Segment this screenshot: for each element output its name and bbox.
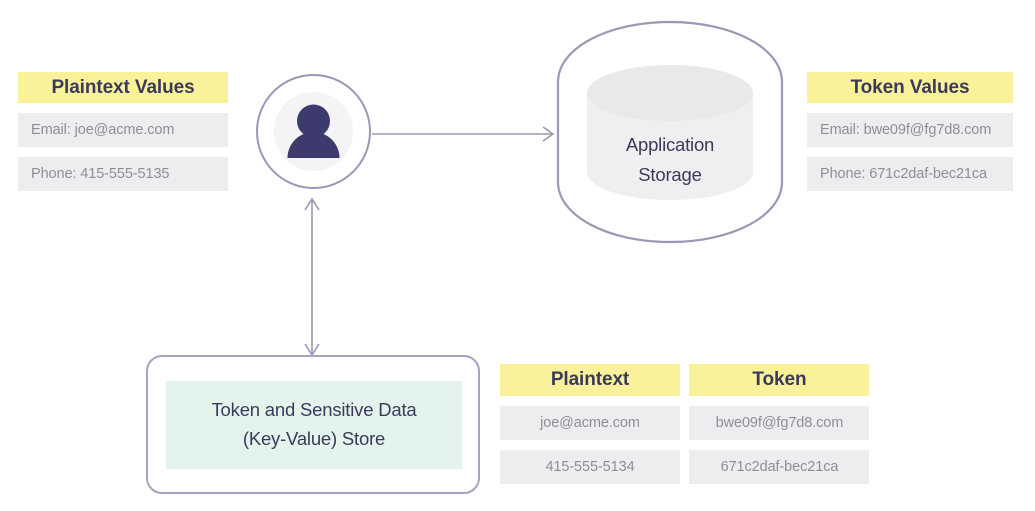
- user-to-storage-arrow: [372, 120, 562, 148]
- kv-store-label-line1: Token and Sensitive Data: [166, 395, 462, 424]
- mapping-cell-plaintext-email: joe@acme.com: [500, 406, 680, 440]
- user-to-kvstore-arrow: [298, 196, 326, 358]
- mapping-column-token: Token bwe09f@fg7d8.com 671c2daf-bec21ca: [689, 364, 869, 484]
- user-node: [256, 74, 371, 189]
- plaintext-values-header: Plaintext Values: [18, 72, 228, 103]
- kv-store-label-line2: (Key-Value) Store: [166, 424, 462, 453]
- token-phone-row: Phone: 671c2daf-bec21ca: [807, 157, 1013, 191]
- mapping-header-plaintext: Plaintext: [500, 364, 680, 396]
- mapping-cell-token-email: bwe09f@fg7d8.com: [689, 406, 869, 440]
- storage-node-label: Application Storage: [556, 130, 784, 190]
- kv-store-label: Token and Sensitive Data (Key-Value) Sto…: [166, 395, 462, 453]
- mapping-cell-plaintext-phone: 415-555-5134: [500, 450, 680, 484]
- diagram-canvas: Plaintext Values Email: joe@acme.com Pho…: [0, 0, 1035, 511]
- token-email-row: Email: bwe09f@fg7d8.com: [807, 113, 1013, 147]
- storage-label-line1: Application: [556, 130, 784, 160]
- token-values-header: Token Values: [807, 72, 1013, 103]
- token-values-panel: Token Values Email: bwe09f@fg7d8.com Pho…: [807, 72, 1013, 191]
- storage-label-line2: Storage: [556, 160, 784, 190]
- mapping-cell-token-phone: 671c2daf-bec21ca: [689, 450, 869, 484]
- plaintext-phone-row: Phone: 415-555-5135: [18, 157, 228, 191]
- user-avatar-icon: [258, 76, 369, 187]
- token-mapping-table: Plaintext joe@acme.com 415-555-5134 Toke…: [500, 364, 869, 484]
- plaintext-email-row: Email: joe@acme.com: [18, 113, 228, 147]
- mapping-header-token: Token: [689, 364, 869, 396]
- mapping-column-plaintext: Plaintext joe@acme.com 415-555-5134: [500, 364, 680, 484]
- plaintext-values-panel: Plaintext Values Email: joe@acme.com Pho…: [18, 72, 228, 191]
